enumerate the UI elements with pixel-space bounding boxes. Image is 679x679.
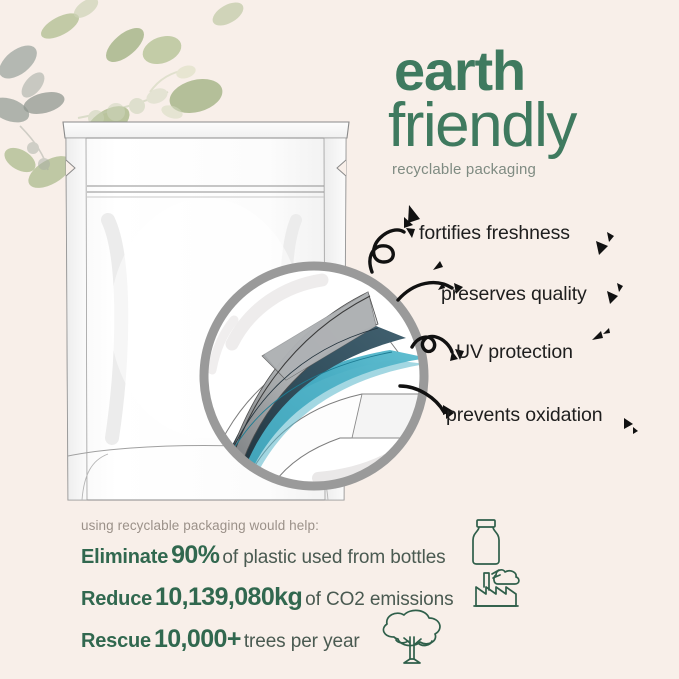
feature-label-uv-protection: UV protection (456, 341, 573, 364)
stat-verb: Rescue (81, 630, 151, 652)
feature-label-preserves-quality: preserves quality (441, 283, 587, 306)
bottle-icon (466, 517, 506, 567)
headline-subtitle: recyclable packaging (392, 161, 668, 178)
stat-value: 10,139,080kg (155, 583, 302, 611)
stat-verb: Reduce (81, 588, 152, 610)
stat-description: trees per year (244, 631, 360, 652)
material-layers-magnifier (190, 252, 438, 500)
stat-verb: Eliminate (81, 546, 168, 568)
stats-intro-text: using recyclable packaging would help: (81, 518, 319, 533)
factory-icon (472, 563, 524, 609)
tree-icon (374, 607, 450, 669)
stat-description: of plastic used from bottles (222, 547, 445, 568)
feature-label-fortifies-freshness: fortifies freshness (419, 222, 570, 245)
stat-value: 90% (171, 541, 219, 569)
headline-line-2: friendly (388, 95, 668, 157)
stat-row-rescue: Rescue10,000+trees per year (81, 627, 360, 652)
feature-label-prevents-oxidation: prevents oxidation (446, 404, 602, 427)
infographic-page: earth friendly recyclable packaging (0, 0, 679, 679)
stat-value: 10,000+ (154, 625, 241, 653)
headline-block: earth friendly recyclable packaging (388, 44, 668, 178)
stat-row-eliminate: Eliminate90%of plastic used from bottles (81, 543, 446, 568)
